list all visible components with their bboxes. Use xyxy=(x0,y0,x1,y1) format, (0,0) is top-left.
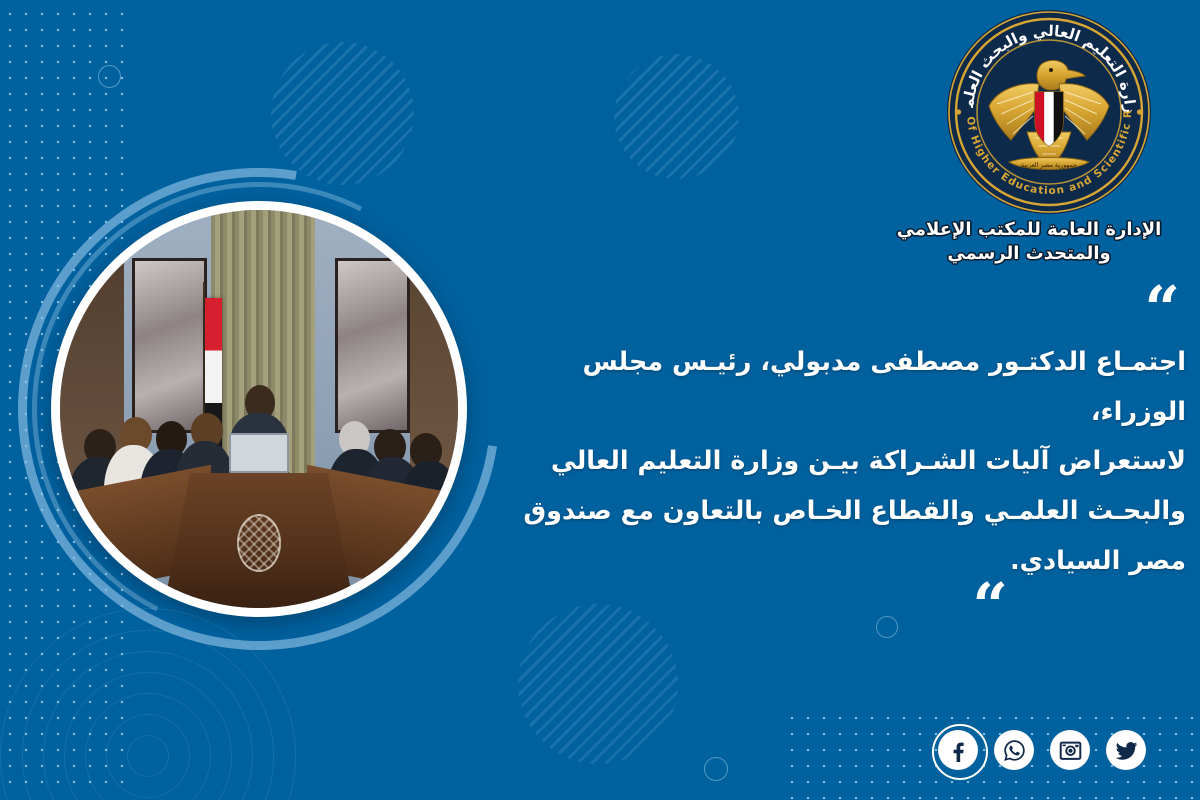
laptop xyxy=(229,433,289,473)
quote-open-mark: “ xyxy=(486,292,1186,338)
twitter-icon[interactable] xyxy=(1106,730,1146,770)
quote-block: “ اجتمـاع الدكتـور مصطفى مدبولي، رئيـس م… xyxy=(486,292,1186,623)
wall-artwork-left xyxy=(132,258,208,433)
press-card: وزارة التعليم العالي والبحث العلمي Minis… xyxy=(0,0,1200,800)
quote-close-mark: “ xyxy=(486,589,1186,623)
quote-line-4: مصر السيادي. xyxy=(486,537,1186,587)
quote-line-2: لاستعراض آليات الشـراكة بيـن وزارة التعل… xyxy=(486,437,1186,487)
logo-caption-line2: والمتحدث الرسمي xyxy=(860,242,1198,266)
logo-caption-line1: الإدارة العامة للمكتب الإعلامي xyxy=(860,218,1198,242)
striped-circle-top-center xyxy=(614,54,739,179)
ministry-logo: وزارة التعليم العالي والبحث العلمي Minis… xyxy=(945,8,1153,216)
facebook-icon[interactable] xyxy=(938,730,978,770)
striped-circle-top-left xyxy=(271,42,414,185)
cabinet-meeting-photo xyxy=(60,210,458,608)
quote-text: اجتمـاع الدكتـور مصطفى مدبولي، رئيـس مجل… xyxy=(486,338,1186,587)
circle-outline-bottom-left xyxy=(704,757,728,781)
wall-artwork-right xyxy=(335,258,411,433)
whatsapp-icon[interactable] xyxy=(994,730,1034,770)
circle-outline-top-left xyxy=(98,65,121,88)
photo-medallion xyxy=(18,168,500,650)
photo-frame xyxy=(51,201,467,617)
logo-caption: الإدارة العامة للمكتب الإعلامي والمتحدث … xyxy=(860,218,1198,266)
quote-line-3: والبحـث العلمـي والقطاع الخـاص بالتعاون … xyxy=(486,487,1186,537)
instagram-icon[interactable] xyxy=(1050,730,1090,770)
social-links xyxy=(938,730,1146,770)
quote-line-1: اجتمـاع الدكتـور مصطفى مدبولي، رئيـس مجل… xyxy=(486,338,1186,437)
striped-circle-bottom xyxy=(518,604,678,764)
table-emblem xyxy=(237,514,281,572)
eagle-scroll-text: جمهورية مصر العربية xyxy=(1021,161,1077,169)
